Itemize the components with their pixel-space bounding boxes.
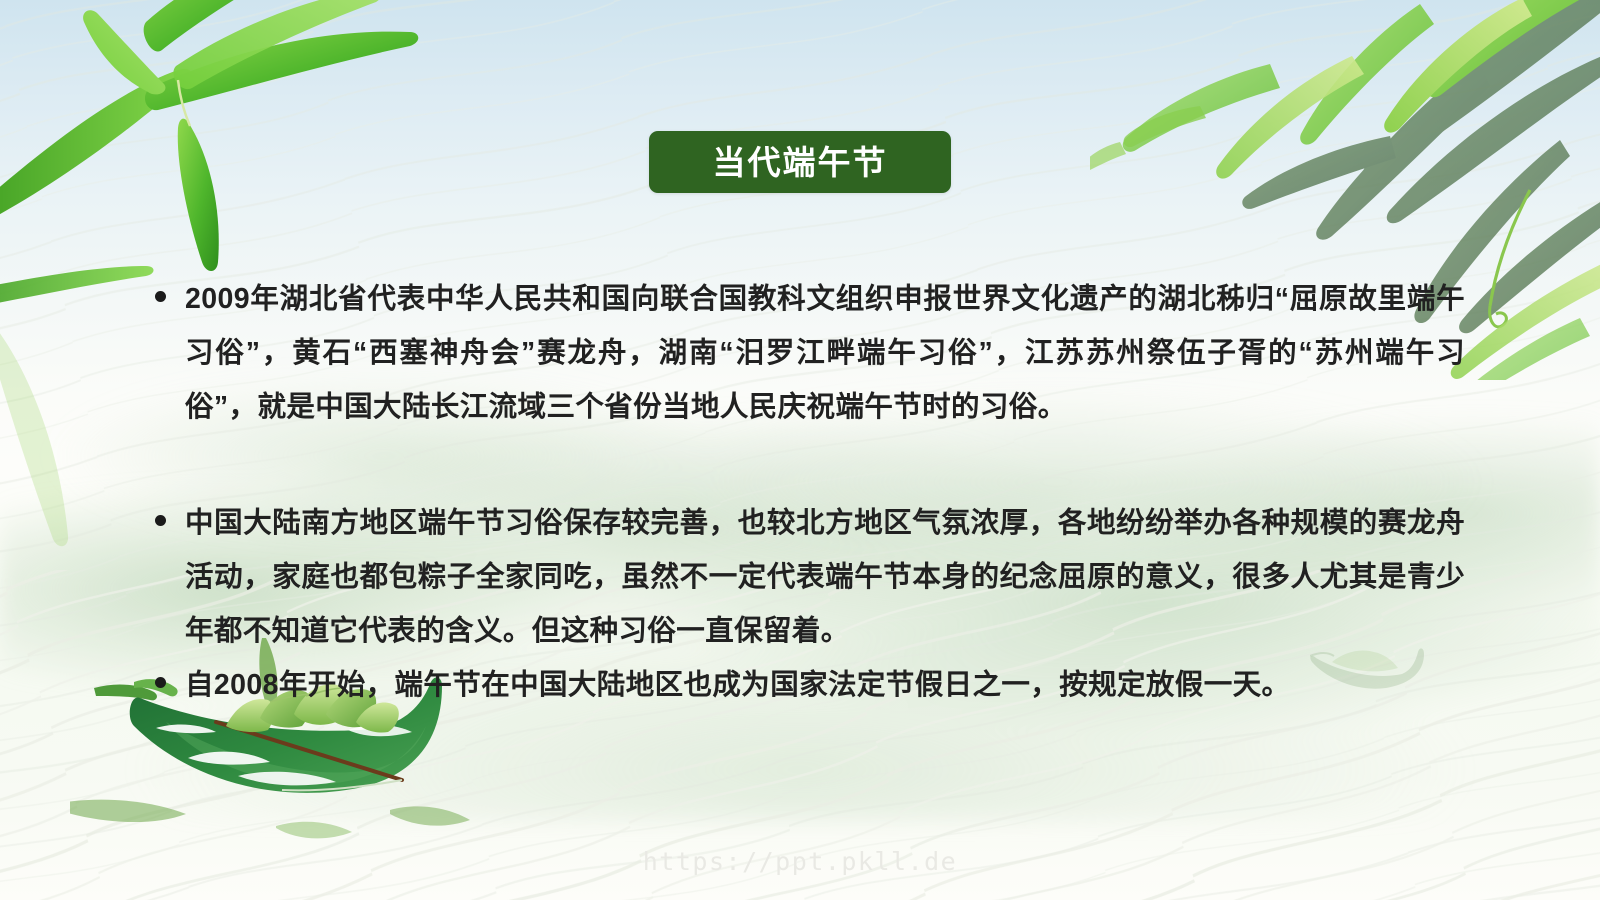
bullet-dot-icon	[155, 677, 166, 688]
bullet-text-1: 2009年湖北省代表中华人民共和国向联合国教科文组织申报世界文化遗产的湖北秭归“…	[185, 272, 1465, 434]
bullet-item-1: 2009年湖北省代表中华人民共和国向联合国教科文组织申报世界文化遗产的湖北秭归“…	[155, 272, 1465, 434]
bullet-item-3: 自2008年开始，端午节在中国大陆地区也成为国家法定节假日之一，按规定放假一天。	[155, 658, 1465, 712]
bullet-text-2: 中国大陆南方地区端午节习俗保存较完善，也较北方地区气氛浓厚，各地纷纷举办各种规模…	[185, 496, 1465, 658]
bullet-item-2: 中国大陆南方地区端午节习俗保存较完善，也较北方地区气氛浓厚，各地纷纷举办各种规模…	[155, 496, 1465, 658]
page-title: 当代端午节	[713, 146, 888, 179]
slide-canvas: 当代端午节 2009年湖北省代表中华人民共和国向联合国教科文组织申报世界文化遗产…	[0, 0, 1600, 900]
bullet-text-3: 自2008年开始，端午节在中国大陆地区也成为国家法定节假日之一，按规定放假一天。	[185, 658, 1465, 712]
paragraph-spacer	[155, 434, 1465, 496]
slide-body-content: 2009年湖北省代表中华人民共和国向联合国教科文组织申报世界文化遗产的湖北秭归“…	[155, 272, 1465, 712]
slide-title-banner: 当代端午节	[649, 131, 951, 193]
bullet-dot-icon	[155, 515, 166, 526]
bullet-dot-icon	[155, 291, 166, 302]
watermark-url: https://ppt.pkll.de	[643, 847, 957, 876]
bamboo-leaves-top-left-icon	[0, 0, 440, 310]
bamboo-leaf-mid-left-icon	[0, 300, 110, 560]
